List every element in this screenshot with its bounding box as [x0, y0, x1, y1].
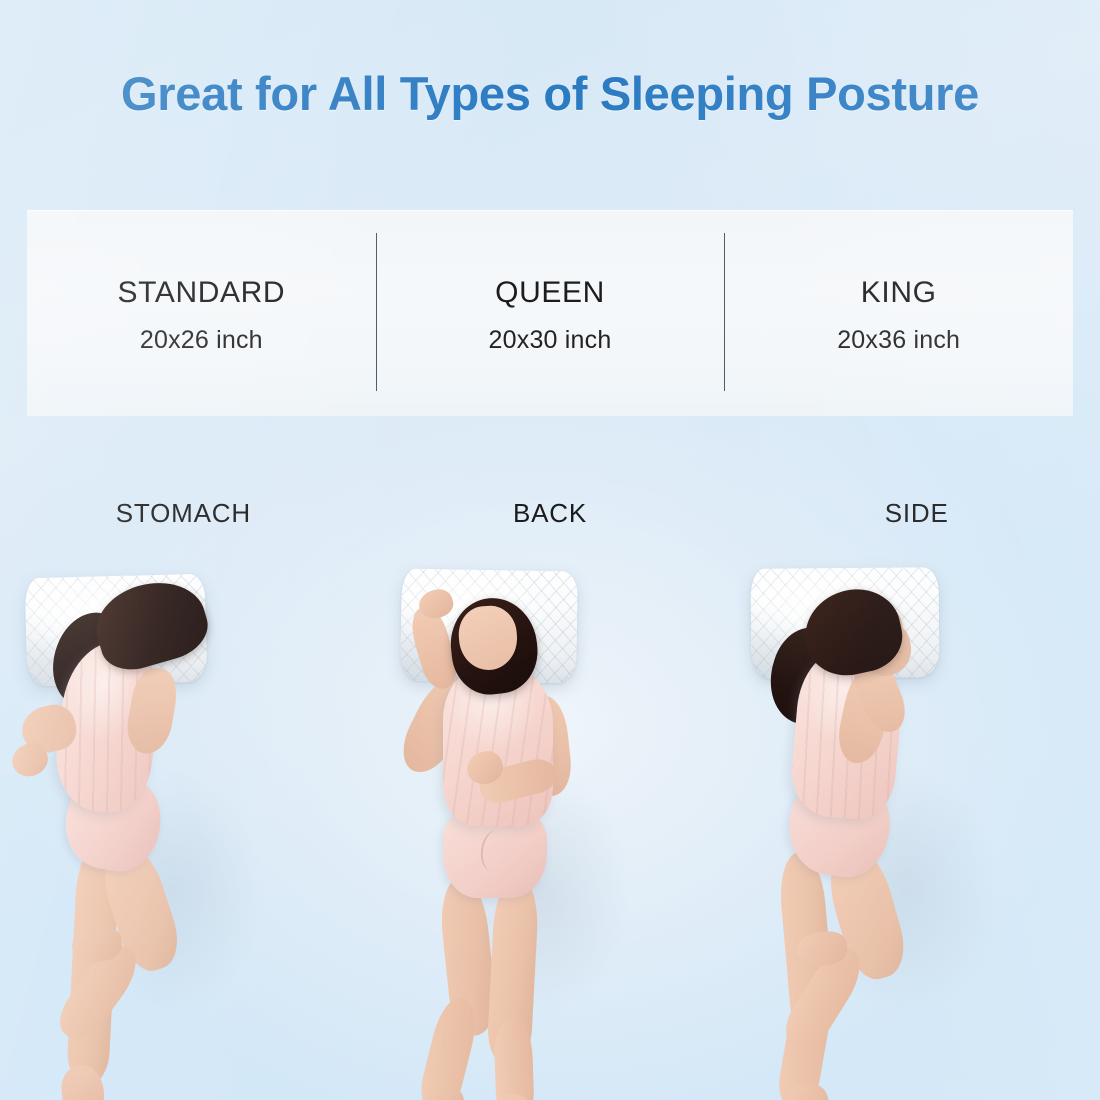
size-dimensions: 20x30 inch	[489, 328, 612, 353]
size-column-king: KING 20x36 inch	[724, 210, 1073, 416]
posture-label: BACK	[367, 498, 734, 529]
posture-gallery: STOMACH BACK	[0, 498, 1100, 1098]
size-name: KING	[861, 278, 937, 308]
posture-item-back: BACK	[367, 498, 734, 1098]
posture-label: STOMACH	[0, 498, 367, 529]
sleeping-photo-side	[733, 546, 1100, 1098]
size-name: STANDARD	[118, 278, 286, 308]
size-dimensions: 20x26 inch	[140, 328, 263, 353]
sleeping-photo-back	[367, 546, 734, 1098]
posture-item-stomach: STOMACH	[0, 498, 367, 1098]
size-name: QUEEN	[495, 278, 605, 308]
promo-graphic: Great for All Types of Sleeping Posture …	[0, 0, 1100, 1100]
sleeping-photo-stomach	[0, 546, 367, 1098]
posture-item-side: SIDE	[733, 498, 1100, 1098]
size-dimensions: 20x36 inch	[837, 328, 960, 353]
page-title: Great for All Types of Sleeping Posture	[0, 66, 1100, 121]
size-column-queen: QUEEN 20x30 inch	[376, 210, 725, 416]
size-table: STANDARD 20x26 inch QUEEN 20x30 inch KIN…	[27, 210, 1073, 416]
posture-label: SIDE	[733, 498, 1100, 529]
size-column-standard: STANDARD 20x26 inch	[27, 210, 376, 416]
